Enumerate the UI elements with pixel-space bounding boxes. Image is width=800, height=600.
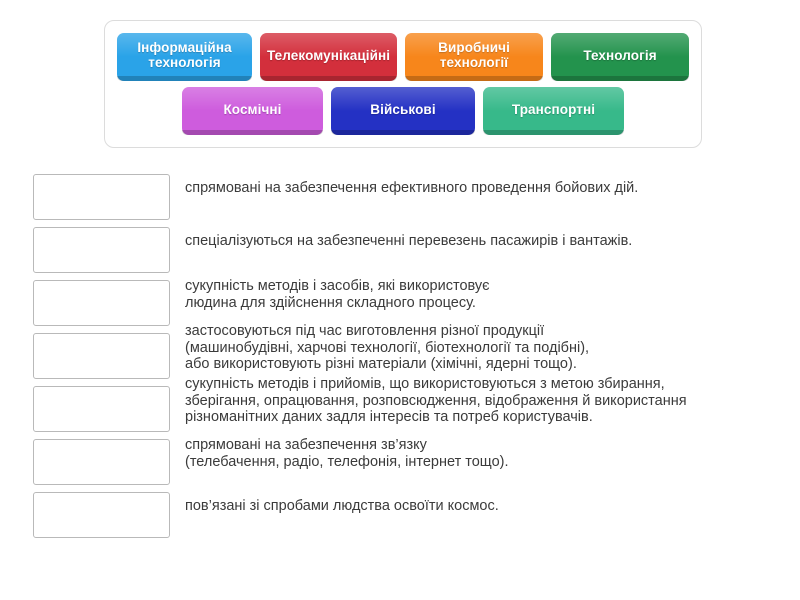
tile-label: Військові <box>370 102 435 117</box>
drop-zone[interactable] <box>33 439 170 485</box>
tile-label: Телекомунікаційні <box>267 48 390 63</box>
draggable-tile[interactable]: Технологія <box>551 33 689 81</box>
definition-text: сукупність методів і засобів, які викори… <box>185 278 785 311</box>
drop-zone[interactable] <box>33 280 170 326</box>
answer-row: спеціалізуються на забезпеченні перевезе… <box>0 219 800 272</box>
tile-label: Інформаційна технологія <box>137 40 231 70</box>
tile-label: Технологія <box>583 48 656 63</box>
answer-row: пов’язані зі спробами людства освоїти ко… <box>0 484 800 537</box>
drop-zone[interactable] <box>33 386 170 432</box>
definition-text: застосовуються під час виготовлення різн… <box>185 323 785 373</box>
drop-zone[interactable] <box>33 333 170 379</box>
tile-label: Космічні <box>223 102 281 117</box>
answer-row: застосовуються під час виготовлення різн… <box>0 325 800 378</box>
tile-bank-row-2: КосмічніВійськовіТранспортні <box>113 87 693 135</box>
drop-zone[interactable] <box>33 492 170 538</box>
drop-zone[interactable] <box>33 174 170 220</box>
draggable-tile[interactable]: Військові <box>331 87 475 135</box>
definition-text: спрямовані на забезпечення ефективного п… <box>185 180 785 197</box>
tile-label: Транспортні <box>512 102 595 117</box>
answer-row: сукупність методів і прийомів, що викори… <box>0 378 800 431</box>
answer-row: спрямовані на забезпечення ефективного п… <box>0 166 800 219</box>
tile-bank-row-1: Інформаційна технологіяТелекомунікаційні… <box>113 33 693 81</box>
draggable-tile[interactable]: Транспортні <box>483 87 624 135</box>
definition-text: спеціалізуються на забезпеченні перевезе… <box>185 233 785 250</box>
definition-text: спрямовані на забезпечення зв’язку (теле… <box>185 437 785 470</box>
answer-rows: спрямовані на забезпечення ефективного п… <box>0 166 800 537</box>
answer-row: сукупність методів і засобів, які викори… <box>0 272 800 325</box>
definition-text: пов’язані зі спробами людства освоїти ко… <box>185 498 785 515</box>
tile-bank: Інформаційна технологіяТелекомунікаційні… <box>104 20 702 148</box>
definition-text: сукупність методів і прийомів, що викори… <box>185 376 785 426</box>
tile-label: Виробничі технології <box>438 40 510 70</box>
draggable-tile[interactable]: Інформаційна технологія <box>117 33 252 81</box>
draggable-tile[interactable]: Космічні <box>182 87 323 135</box>
answer-row: спрямовані на забезпечення зв’язку (теле… <box>0 431 800 484</box>
draggable-tile[interactable]: Телекомунікаційні <box>260 33 397 81</box>
drop-zone[interactable] <box>33 227 170 273</box>
draggable-tile[interactable]: Виробничі технології <box>405 33 543 81</box>
